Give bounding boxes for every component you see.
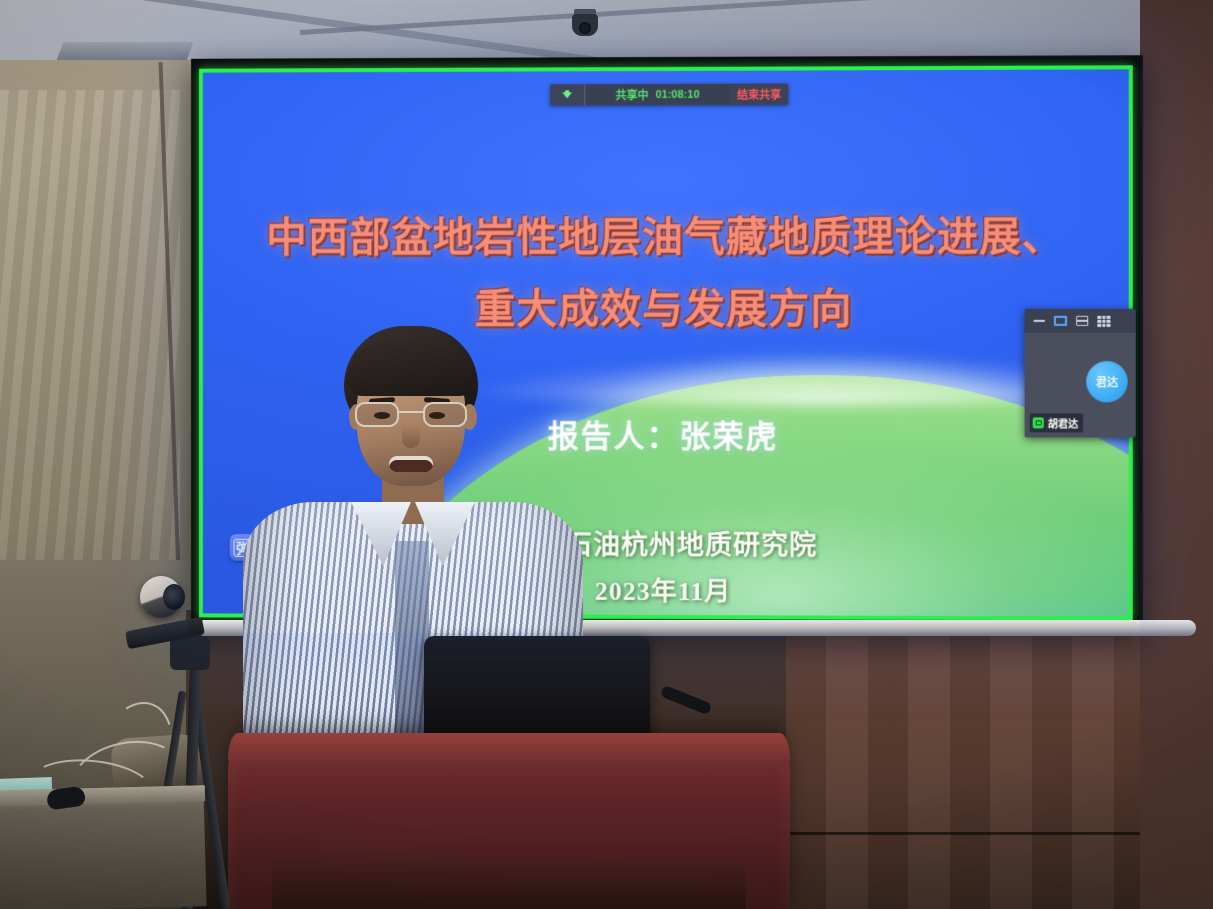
speaker-view-icon[interactable]: [1054, 316, 1067, 326]
presenter-nose: [402, 426, 420, 448]
glasses-bridge: [399, 411, 423, 413]
video-panel-stage: 君达 胡君达: [1025, 333, 1136, 438]
gallery-view-icon[interactable]: [1097, 315, 1110, 326]
end-share-button[interactable]: 结束共享: [730, 84, 788, 105]
avatar: 君达: [1086, 361, 1127, 402]
participant-video-panel[interactable]: 君达 胡君达: [1025, 309, 1136, 438]
slide-title-line1: 中西部盆地岩性地层油气藏地质理论进展、: [266, 213, 1064, 260]
screen-share-toolbar[interactable]: 共享中 01:08:10 结束共享: [550, 84, 788, 106]
share-status-group: 共享中 01:08:10: [585, 84, 730, 105]
video-panel-controls: [1025, 309, 1136, 333]
podium-top-surface: [228, 733, 790, 767]
screen-share-icon: [1033, 417, 1044, 428]
podium-base: [272, 862, 746, 909]
download-icon: [562, 92, 572, 98]
meeting-room-photo: 中西部盆地岩性地层油气藏地质理论进展、 重大成效与发展方向 报告人：张荣虎 中国…: [0, 0, 1213, 909]
ceiling-vent: [57, 42, 194, 60]
tripod-head: [170, 636, 210, 670]
list-view-icon[interactable]: [1076, 316, 1088, 326]
presenter-mouth: [389, 456, 433, 472]
share-timer: 01:08:10: [655, 88, 699, 100]
glasses-icon: [351, 402, 473, 428]
minimize-icon[interactable]: [1034, 320, 1045, 322]
share-status-label: 共享中: [616, 87, 649, 103]
glasses-lens-left: [355, 402, 399, 427]
participant-name: 胡君达: [1048, 415, 1078, 430]
ceiling-camera: [572, 14, 598, 36]
right-wall: [1140, 0, 1213, 909]
slide-title: 中西部盆地岩性地层油气藏地质理论进展、 重大成效与发展方向: [203, 200, 1129, 345]
presenter-hair-front: [347, 342, 475, 396]
participant-name-badge: 胡君达: [1030, 413, 1084, 432]
glasses-lens-right: [423, 402, 467, 427]
ceiling-beam: [300, 0, 1213, 35]
camera-lens: [163, 584, 185, 610]
toolbar-download-button[interactable]: [550, 84, 585, 105]
